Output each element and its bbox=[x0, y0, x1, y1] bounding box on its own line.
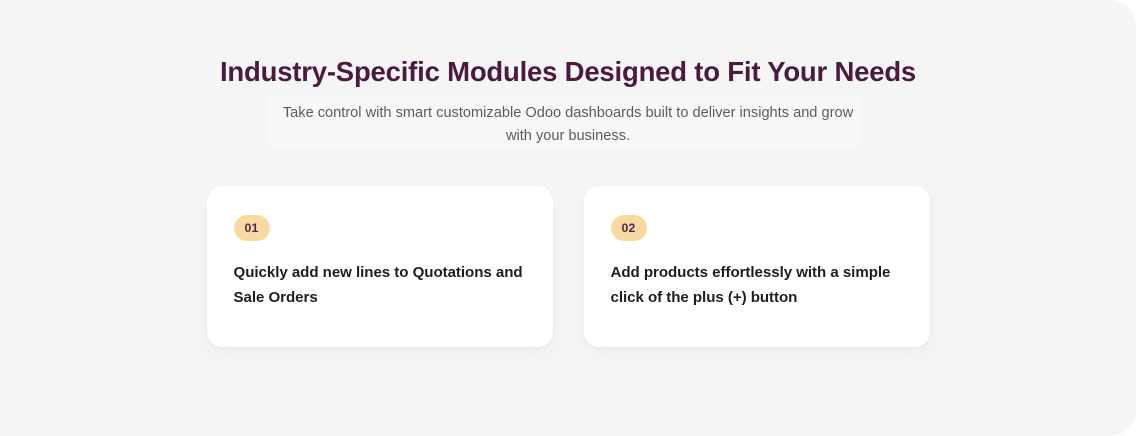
feature-card[interactable]: 02 Add products effortlessly with a simp… bbox=[584, 186, 930, 347]
card-title: Add products effortlessly with a simple … bbox=[611, 260, 903, 310]
feature-card[interactable]: 01 Quickly add new lines to Quotations a… bbox=[207, 186, 553, 347]
landing-section: Industry-Specific Modules Designed to Fi… bbox=[0, 0, 1136, 436]
section-content: Industry-Specific Modules Designed to Fi… bbox=[0, 0, 1136, 147]
feature-card-list: 01 Quickly add new lines to Quotations a… bbox=[0, 186, 1136, 347]
card-title: Quickly add new lines to Quotations and … bbox=[234, 260, 526, 310]
section-heading: Industry-Specific Modules Designed to Fi… bbox=[0, 0, 1136, 90]
card-number-badge: 01 bbox=[234, 215, 270, 241]
section-subtitle: Take control with smart customizable Odo… bbox=[268, 102, 868, 147]
card-number-badge: 02 bbox=[611, 215, 647, 241]
